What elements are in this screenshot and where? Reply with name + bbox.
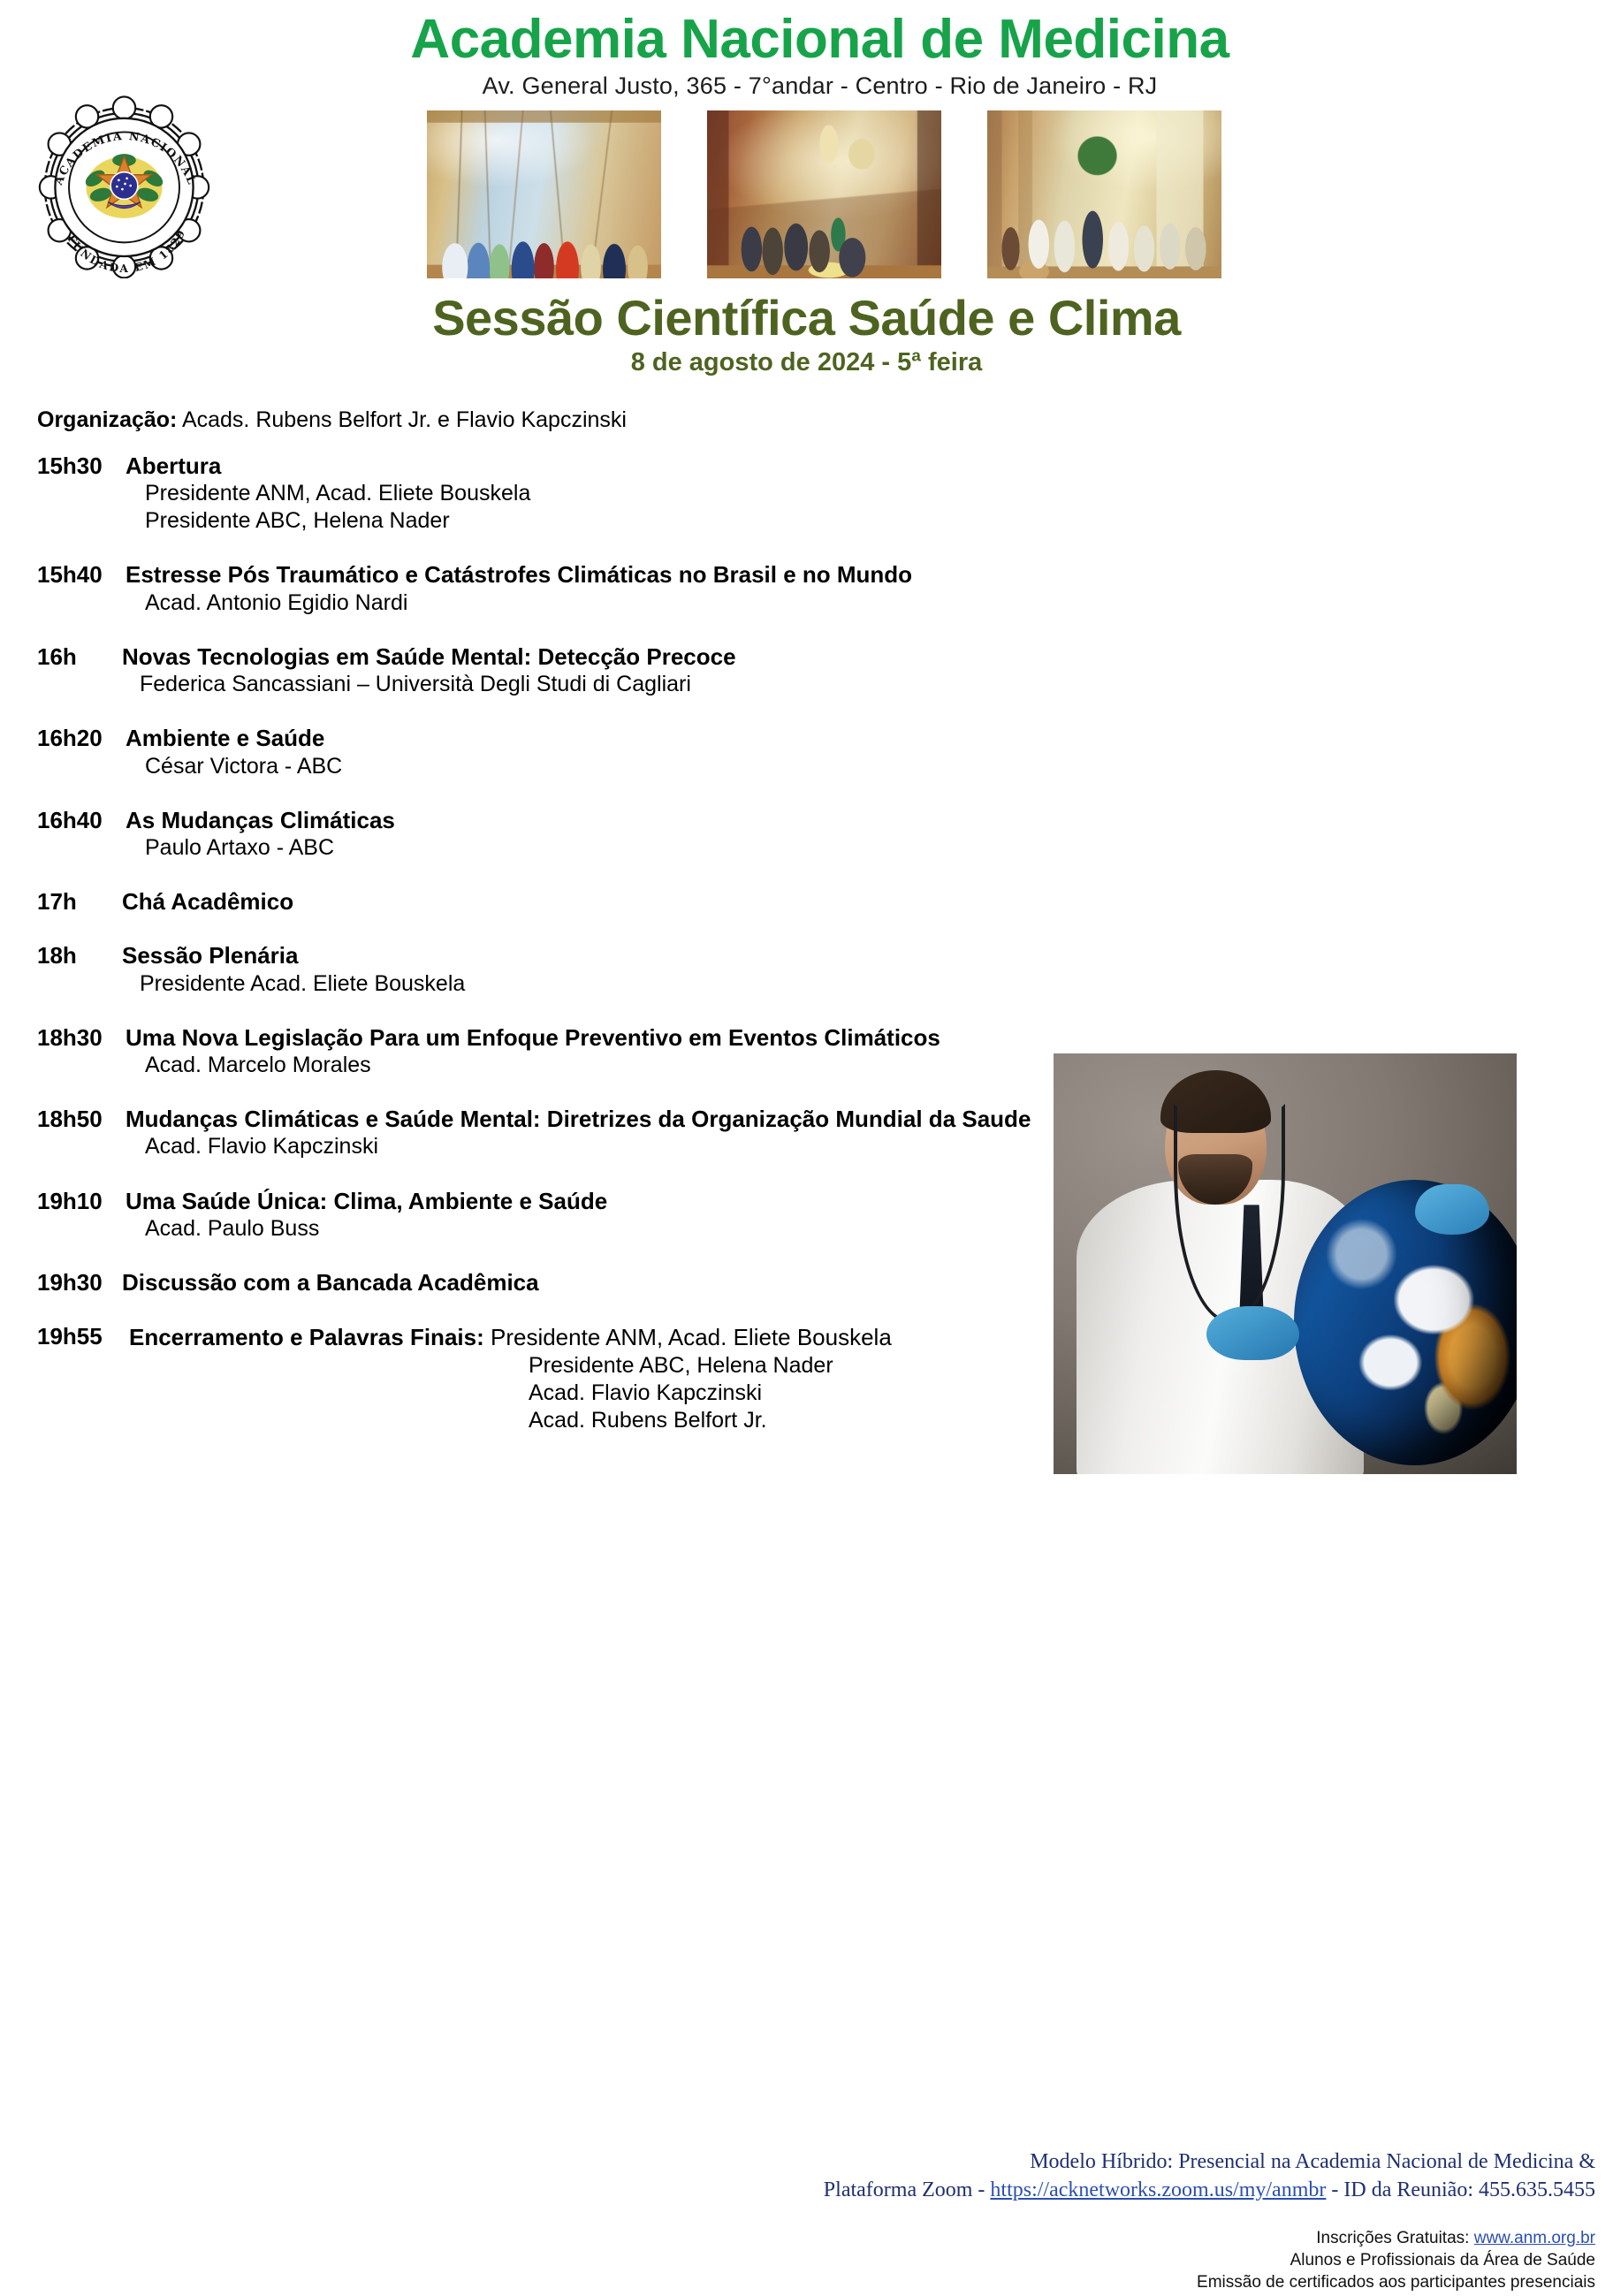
schedule-list: 15h30 Abertura Presidente ANM, Acad. Eli… — [37, 452, 1613, 1435]
schedule-item-speaker: Presidente Acad. Eliete Bouskela — [140, 970, 1613, 998]
schedule-item: 16h Novas Tecnologias em Saúde Mental: D… — [37, 643, 1613, 698]
schedule-item: 15h30 Abertura Presidente ANM, Acad. Eli… — [37, 452, 1613, 536]
schedule-item: 18h50 Mudanças Climáticas e Saúde Mental… — [37, 1106, 1613, 1160]
schedule-item-speaker: Acad. Paulo Buss — [145, 1215, 1613, 1243]
anm-website-link[interactable]: www.anm.org.br — [1474, 2229, 1595, 2247]
schedule-item-time: 16h20 — [37, 725, 113, 779]
schedule-item-title: Novas Tecnologias em Saúde Mental: Detec… — [122, 643, 1613, 671]
schedule-item-closing: 19h55 Encerramento e Palavras Finais: Pr… — [37, 1323, 1613, 1434]
schedule-item: 17h Chá Acadêmico — [37, 888, 1613, 916]
schedule-item: 18h30 Uma Nova Legislação Para um Enfoqu… — [37, 1024, 1613, 1079]
registration-label: Inscrições Gratuitas: — [1316, 2229, 1473, 2247]
schedule-item-speaker: Presidente ABC, Helena Nader — [145, 507, 1613, 535]
schedule-item-time: 19h30 — [37, 1269, 113, 1296]
imperial-arrival-painting — [427, 110, 661, 278]
schedule-item: 16h20 Ambiente e Saúde César Victora - A… — [37, 725, 1613, 779]
session-date: 8 de agosto de 2024 - 5ª feira — [0, 348, 1613, 377]
closing-first-name: Presidente ANM, Acad. Eliete Bouskela — [491, 1324, 892, 1350]
schedule-item-time: 15h40 — [37, 561, 113, 616]
schedule-item: 15h40 Estresse Pós Traumático e Catástro… — [37, 561, 1613, 616]
schedule-item-speaker: Acad. Antonio Egidio Nardi — [145, 589, 1613, 617]
hybrid-model-info: Modelo Híbrido: Presencial na Academia N… — [672, 2148, 1595, 2205]
session-title: Sessão Científica Saúde e Clima — [0, 293, 1613, 345]
schedule-item-title: Abertura — [126, 452, 1613, 480]
schedule-item-speaker: Acad. Marcelo Morales — [145, 1052, 1613, 1079]
academy-seal-logo: ACADEMIA NACIONAL DE MEDICINA FUNDADA EM… — [34, 88, 215, 278]
zoom-meeting-id: - ID da Reunião: 455.635.5455 — [1326, 2178, 1595, 2201]
physicians-street-painting — [987, 110, 1221, 278]
schedule-item: 18h Sessão Plenária Presidente Acad. Eli… — [37, 942, 1613, 997]
header-paintings-row — [0, 110, 1613, 278]
organization-label: Organização: — [37, 407, 177, 432]
schedule-item-time: 16h40 — [37, 807, 113, 862]
schedule-item-title: Sessão Plenária — [122, 942, 1613, 969]
schedule-item-speaker: Paulo Artaxo - ABC — [145, 834, 1613, 862]
closing-name: Presidente ABC, Helena Nader — [529, 1352, 1613, 1380]
schedule-item-time: 18h30 — [37, 1024, 113, 1079]
schedule-item-speaker: César Victora - ABC — [145, 753, 1613, 780]
registration-line: Inscrições Gratuitas: www.anm.org.br — [937, 2227, 1595, 2249]
zoom-platform-line: Plataforma Zoom - https://acknetworks.zo… — [672, 2176, 1595, 2204]
academy-address: Av. General Justo, 365 - 7°andar - Centr… — [0, 72, 1613, 100]
schedule-item-time: 16h — [37, 643, 113, 698]
schedule-item-title: Ambiente e Saúde — [126, 725, 1613, 752]
registration-info: Inscrições Gratuitas: www.anm.org.br Alu… — [937, 2227, 1595, 2293]
academy-session-painting — [707, 110, 941, 278]
certificates-line: Emissão de certificados aos participante… — [937, 2271, 1595, 2293]
hybrid-model-line: Modelo Híbrido: Presencial na Academia N… — [672, 2148, 1595, 2176]
schedule-item-speaker: Acad. Flavio Kapczinski — [145, 1133, 1613, 1160]
schedule-item-time: 18h50 — [37, 1106, 113, 1160]
schedule-item-title: Chá Acadêmico — [122, 888, 1613, 916]
schedule-item: 19h30 Discussão com a Bancada Acadêmica — [37, 1269, 1613, 1296]
schedule-item-title: Uma Saúde Única: Clima, Ambiente e Saúde — [126, 1188, 1613, 1215]
schedule-item-title: Uma Nova Legislação Para um Enfoque Prev… — [126, 1024, 1613, 1052]
schedule-item: 19h10 Uma Saúde Única: Clima, Ambiente e… — [37, 1188, 1613, 1243]
closing-line: Encerramento e Palavras Finais: Presiden… — [129, 1323, 1613, 1352]
closing-label: Encerramento e Palavras Finais: — [129, 1324, 484, 1350]
document-header: Academia Nacional de Medicina Av. Genera… — [0, 0, 1613, 278]
schedule-item-time: 15h30 — [37, 452, 113, 536]
schedule-item-title: Mudanças Climáticas e Saúde Mental: Dire… — [126, 1106, 1613, 1133]
schedule-item-speaker: Presidente ANM, Acad. Eliete Bouskela — [145, 480, 1613, 507]
schedule-item-time: 18h — [37, 942, 113, 997]
schedule-item-title: Estresse Pós Traumático e Catástrofes Cl… — [126, 561, 1613, 589]
closing-name: Acad. Flavio Kapczinski — [529, 1380, 1613, 1407]
schedule-item-speaker: Federica Sancassiani – Università Degli … — [140, 671, 1613, 698]
closing-time: 19h55 — [37, 1323, 113, 1434]
audience-line: Alunos e Profissionais da Área de Saúde — [937, 2249, 1595, 2271]
schedule-item-title: As Mudanças Climáticas — [126, 807, 1613, 834]
schedule-item-time: 17h — [37, 888, 113, 916]
closing-name: Acad. Rubens Belfort Jr. — [529, 1407, 1613, 1434]
zoom-prefix: Plataforma Zoom - — [824, 2178, 991, 2201]
page-title: Academia Nacional de Medicina — [0, 12, 1613, 67]
schedule-item: 16h40 As Mudanças Climáticas Paulo Artax… — [37, 807, 1613, 862]
schedule-item-title: Discussão com a Bancada Acadêmica — [122, 1269, 1613, 1296]
organization-value: Acads. Rubens Belfort Jr. e Flavio Kapcz… — [182, 407, 627, 432]
schedule-item-time: 19h10 — [37, 1188, 113, 1243]
zoom-meeting-link[interactable]: https://acknetworks.zoom.us/my/anmbr — [990, 2178, 1326, 2201]
organization-line: Organização: Acads. Rubens Belfort Jr. e… — [37, 407, 1613, 433]
